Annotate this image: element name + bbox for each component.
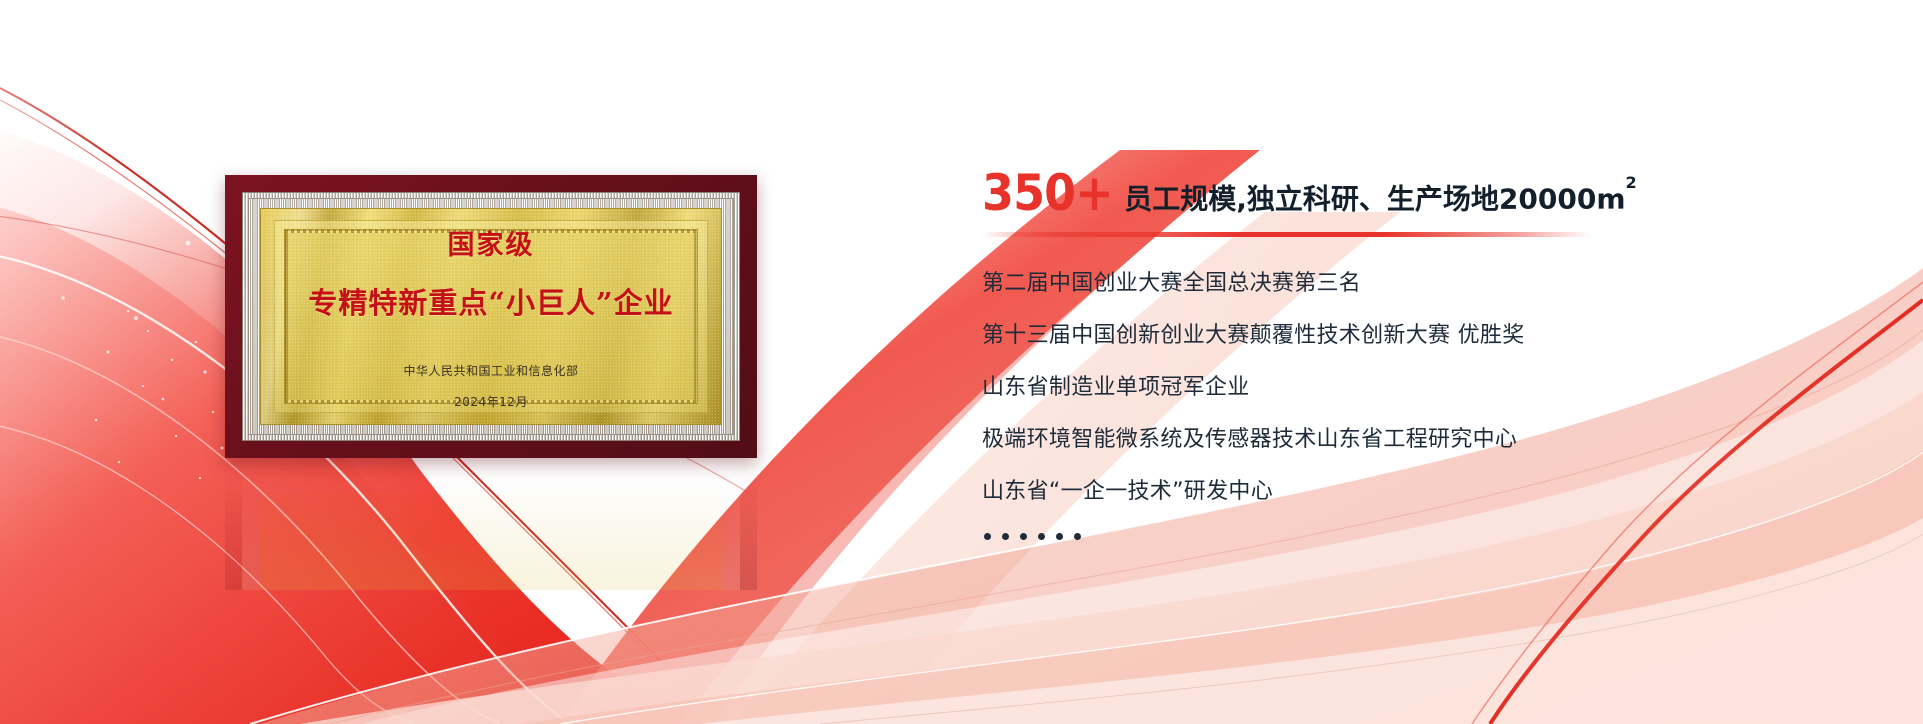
plaque-issuer: 中华人民共和国工业和信息化部 (403, 362, 578, 379)
plaque-date: 2024年12月 (454, 393, 528, 410)
award-item: 山东省制造业单项冠军企业 (982, 377, 1862, 399)
banner-stage: 国家级 专精特新重点“小巨人”企业 中华人民共和国工业和信息化部 2024年12… (0, 0, 1923, 724)
ellipsis-dot (1002, 533, 1009, 540)
headline-superscript: 2 (1626, 173, 1637, 192)
content-column: 350+ 员工规模,独立科研、生产场地20000m2 第二届中国创业大赛全国总决… (982, 168, 1862, 540)
ellipsis-dots (982, 533, 1862, 540)
top-white-fade (0, 0, 760, 160)
plaque-frame: 国家级 专精特新重点“小巨人”企业 中华人民共和国工业和信息化部 2024年12… (225, 175, 757, 458)
headline-underline (982, 232, 1592, 237)
award-plaque: 国家级 专精特新重点“小巨人”企业 中华人民共和国工业和信息化部 2024年12… (225, 175, 757, 458)
plaque-title-line2: 专精特新重点“小巨人”企业 (308, 280, 673, 322)
headline: 350+ 员工规模,独立科研、生产场地20000m2 (982, 168, 1862, 218)
ellipsis-dot (984, 533, 991, 540)
ellipsis-dot (1038, 533, 1045, 540)
award-item: 山东省“一企一技术”研发中心 (982, 481, 1862, 503)
awards-list: 第二届中国创业大赛全国总决赛第三名 第十三届中国创新创业大赛颠覆性技术创新大赛 … (982, 273, 1862, 540)
headline-number: 350+ (982, 168, 1113, 218)
award-item: 极端环境智能微系统及传感器技术山东省工程研究中心 (982, 429, 1862, 451)
headline-text-main: 员工规模,独立科研、生产场地20000m (1124, 182, 1625, 215)
award-item: 第二届中国创业大赛全国总决赛第三名 (982, 273, 1862, 295)
headline-text: 员工规模,独立科研、生产场地20000m2 (1124, 185, 1636, 213)
award-item: 第十三届中国创新创业大赛颠覆性技术创新大赛 优胜奖 (982, 325, 1862, 347)
plaque-title-line1: 国家级 (448, 223, 535, 262)
ellipsis-dot (1074, 533, 1081, 540)
ellipsis-dot (1020, 533, 1027, 540)
ellipsis-dot (1056, 533, 1063, 540)
plaque-text-block: 国家级 专精特新重点“小巨人”企业 中华人民共和国工业和信息化部 2024年12… (225, 175, 757, 458)
